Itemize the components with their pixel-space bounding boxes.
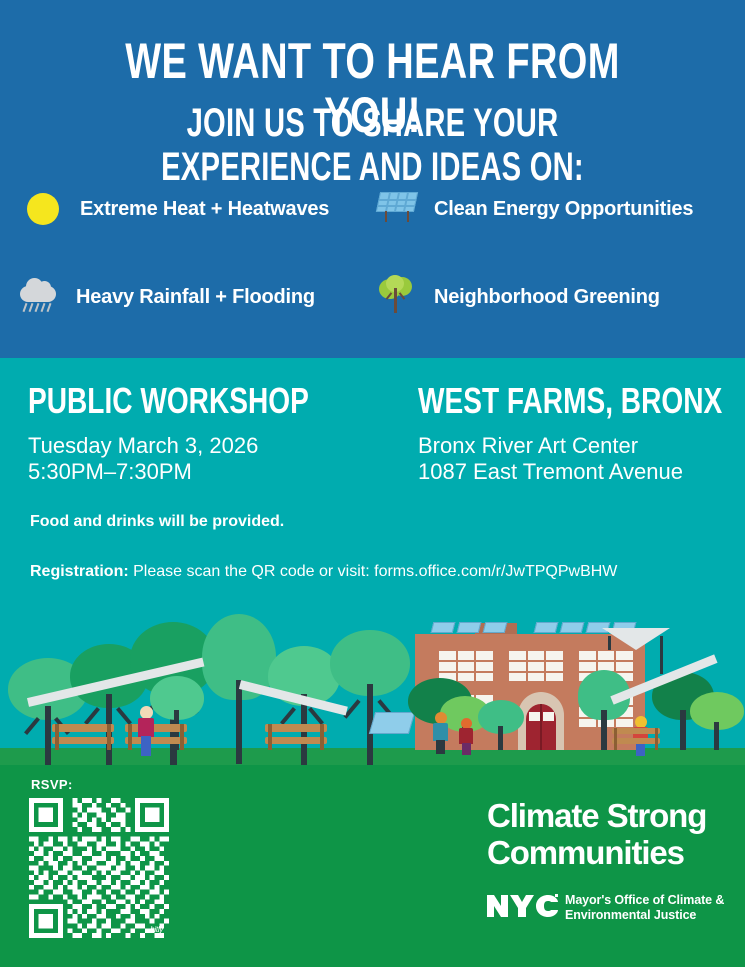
park-bench [612, 728, 660, 750]
sun-icon [22, 186, 68, 232]
rain-cloud-icon [18, 274, 64, 320]
person-figure [432, 712, 450, 752]
agency-line-1: Mayor's Office of Climate & [565, 893, 724, 907]
topic-label: Neighborhood Greening [434, 286, 660, 309]
person-figure [458, 718, 476, 752]
workshop-title: PUBLIC WORKSHOP [28, 382, 309, 420]
park-bench [52, 724, 114, 750]
street-tree [478, 700, 524, 750]
qr-code-image[interactable] [29, 798, 169, 938]
tree-icon [376, 274, 422, 320]
building-window [508, 650, 564, 682]
registration-note: Registration: Please scan the QR code or… [30, 563, 617, 581]
topic-label: Clean Energy Opportunities [434, 198, 693, 221]
topic-clean-energy: Clean Energy Opportunities [376, 186, 693, 232]
park-bench [125, 724, 187, 750]
topics-list: Extreme Heat + Heatwaves Clean Energy Op… [0, 182, 745, 332]
shade-sail [600, 626, 672, 650]
rsvp-label: RSVP: [31, 777, 73, 792]
topic-extreme-heat: Extreme Heat + Heatwaves [22, 186, 329, 232]
roof-solar-panel [483, 622, 508, 633]
roof-solar-panel [457, 622, 482, 633]
topic-label: Extreme Heat + Heatwaves [80, 198, 329, 221]
brand-line-1: Climate Strong [487, 798, 706, 834]
roof-solar-panel [534, 622, 559, 633]
nyc-logo [487, 893, 559, 919]
qr-watermark: bitly [150, 925, 163, 934]
person-figure [136, 706, 156, 750]
topic-heavy-rainfall: Heavy Rainfall + Flooding [18, 274, 315, 320]
scene-illustration [0, 600, 745, 770]
registration-text: Please scan the QR code or visit: forms.… [129, 563, 618, 580]
topic-neighborhood-greening: Neighborhood Greening [376, 274, 660, 320]
roof-solar-panel [431, 622, 456, 633]
registration-label: Registration: [30, 563, 129, 580]
event-time: 5:30PM–7:30PM [28, 458, 192, 486]
poster-flyer: WE WANT TO HEAR FROM YOU! JOIN US TO SHA… [0, 0, 745, 967]
topic-label: Heavy Rainfall + Flooding [76, 286, 315, 309]
headline-secondary: JOIN US TO SHARE YOUR EXPERIENCE AND IDE… [101, 101, 645, 189]
agency-name: Mayor's Office of Climate & Environmenta… [565, 893, 724, 923]
park-bench [265, 724, 327, 750]
qr-code[interactable]: bitly [29, 798, 169, 938]
solar-panel-icon [376, 186, 422, 232]
agency-line-2: Environmental Justice [565, 908, 696, 922]
venue-address: 1087 East Tremont Avenue [418, 458, 683, 486]
event-date: Tuesday March 3, 2026 [28, 432, 258, 460]
street-tree [690, 692, 744, 750]
brand-line-2: Communities [487, 835, 684, 871]
venue-name: Bronx River Art Center [418, 432, 638, 460]
food-note: Food and drinks will be provided. [30, 513, 284, 531]
location-title: WEST FARMS, BRONX [418, 382, 722, 420]
roof-solar-panel [560, 622, 585, 633]
